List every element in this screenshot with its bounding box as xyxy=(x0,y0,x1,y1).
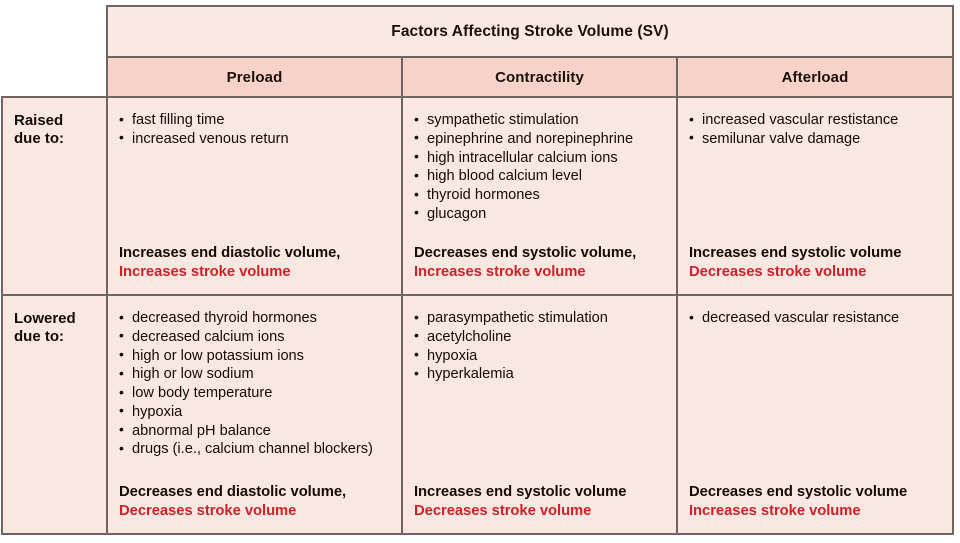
summary-stroke-volume-text: Increases stroke volume xyxy=(689,502,907,521)
figure-canvas: Factors Affecting Stroke Volume (SV) Pre… xyxy=(0,0,960,543)
summary-main-text: Increases end diastolic volume, xyxy=(119,244,340,263)
cell-summary: Increases end systolic volume Decreases … xyxy=(689,244,901,282)
list-item: hypoxia xyxy=(414,347,668,366)
summary-stroke-volume-text: Increases stroke volume xyxy=(414,263,636,282)
list-item: thyroid hormones xyxy=(414,186,668,205)
corner-blank-cell-2 xyxy=(2,57,107,97)
summary-main-text: Decreases end systolic volume, xyxy=(414,244,636,263)
summary-stroke-volume-text: Decreases stroke volume xyxy=(119,502,346,521)
cell-lowered-contractility: parasympathetic stimulation acetylcholin… xyxy=(402,295,677,534)
column-header-contractility: Contractility xyxy=(402,57,677,97)
list-item: high intracellular calcium ions xyxy=(414,149,668,168)
cell-lowered-preload: decreased thyroid hormones decreased cal… xyxy=(107,295,402,534)
bullet-list: parasympathetic stimulation acetylcholin… xyxy=(414,309,668,384)
list-item: high or low sodium xyxy=(119,365,393,384)
bullet-list: sympathetic stimulation epinephrine and … xyxy=(414,111,668,224)
list-item: hyperkalemia xyxy=(414,365,668,384)
list-item: decreased thyroid hormones xyxy=(119,309,393,328)
stroke-volume-factors-table: Factors Affecting Stroke Volume (SV) Pre… xyxy=(1,5,954,535)
list-item: fast filling time xyxy=(119,111,393,130)
list-item: drugs (i.e., calcium channel blockers) xyxy=(119,440,393,459)
list-item: high or low potassium ions xyxy=(119,347,393,366)
list-item: decreased calcium ions xyxy=(119,328,393,347)
bullet-list: decreased vascular resistance xyxy=(689,309,944,328)
list-item: epinephrine and norepinephrine xyxy=(414,130,668,149)
cell-raised-contractility: sympathetic stimulation epinephrine and … xyxy=(402,97,677,295)
cell-summary: Decreases end systolic volume, Increases… xyxy=(414,244,636,282)
list-item: semilunar valve damage xyxy=(689,130,944,149)
row-header-lowered: Lowered due to: xyxy=(2,295,107,534)
list-item: sympathetic stimulation xyxy=(414,111,668,130)
list-item: increased venous return xyxy=(119,130,393,149)
summary-main-text: Decreases end systolic volume xyxy=(689,483,907,502)
cell-raised-preload: fast filling time increased venous retur… xyxy=(107,97,402,295)
table-title: Factors Affecting Stroke Volume (SV) xyxy=(107,6,953,57)
summary-main-text: Increases end systolic volume xyxy=(689,244,901,263)
summary-stroke-volume-text: Decreases stroke volume xyxy=(414,502,626,521)
column-header-afterload: Afterload xyxy=(677,57,953,97)
cell-summary: Decreases end systolic volume Increases … xyxy=(689,483,907,521)
cell-raised-afterload: increased vascular restistance semilunar… xyxy=(677,97,953,295)
bullet-list: decreased thyroid hormones decreased cal… xyxy=(119,309,393,459)
column-header-preload: Preload xyxy=(107,57,402,97)
table-row-raised: Raised due to: fast filling time increas… xyxy=(2,97,953,295)
cell-lowered-afterload: decreased vascular resistance Decreases … xyxy=(677,295,953,534)
corner-blank-cell xyxy=(2,6,107,57)
summary-stroke-volume-text: Increases stroke volume xyxy=(119,263,340,282)
cell-summary: Increases end diastolic volume, Increase… xyxy=(119,244,340,282)
bullet-list: fast filling time increased venous retur… xyxy=(119,111,393,149)
bullet-list: increased vascular restistance semilunar… xyxy=(689,111,944,149)
list-item: increased vascular restistance xyxy=(689,111,944,130)
cell-summary: Decreases end diastolic volume, Decrease… xyxy=(119,483,346,521)
table-header-row: Preload Contractility Afterload xyxy=(2,57,953,97)
table-title-row: Factors Affecting Stroke Volume (SV) xyxy=(2,6,953,57)
list-item: decreased vascular resistance xyxy=(689,309,944,328)
list-item: abnormal pH balance xyxy=(119,422,393,441)
summary-main-text: Decreases end diastolic volume, xyxy=(119,483,346,502)
summary-stroke-volume-text: Decreases stroke volume xyxy=(689,263,901,282)
list-item: parasympathetic stimulation xyxy=(414,309,668,328)
cell-summary: Increases end systolic volume Decreases … xyxy=(414,483,626,521)
list-item: hypoxia xyxy=(119,403,393,422)
summary-main-text: Increases end systolic volume xyxy=(414,483,626,502)
list-item: acetylcholine xyxy=(414,328,668,347)
row-header-raised: Raised due to: xyxy=(2,97,107,295)
list-item: high blood calcium level xyxy=(414,167,668,186)
list-item: low body temperature xyxy=(119,384,393,403)
table-row-lowered: Lowered due to: decreased thyroid hormon… xyxy=(2,295,953,534)
list-item: glucagon xyxy=(414,205,668,224)
